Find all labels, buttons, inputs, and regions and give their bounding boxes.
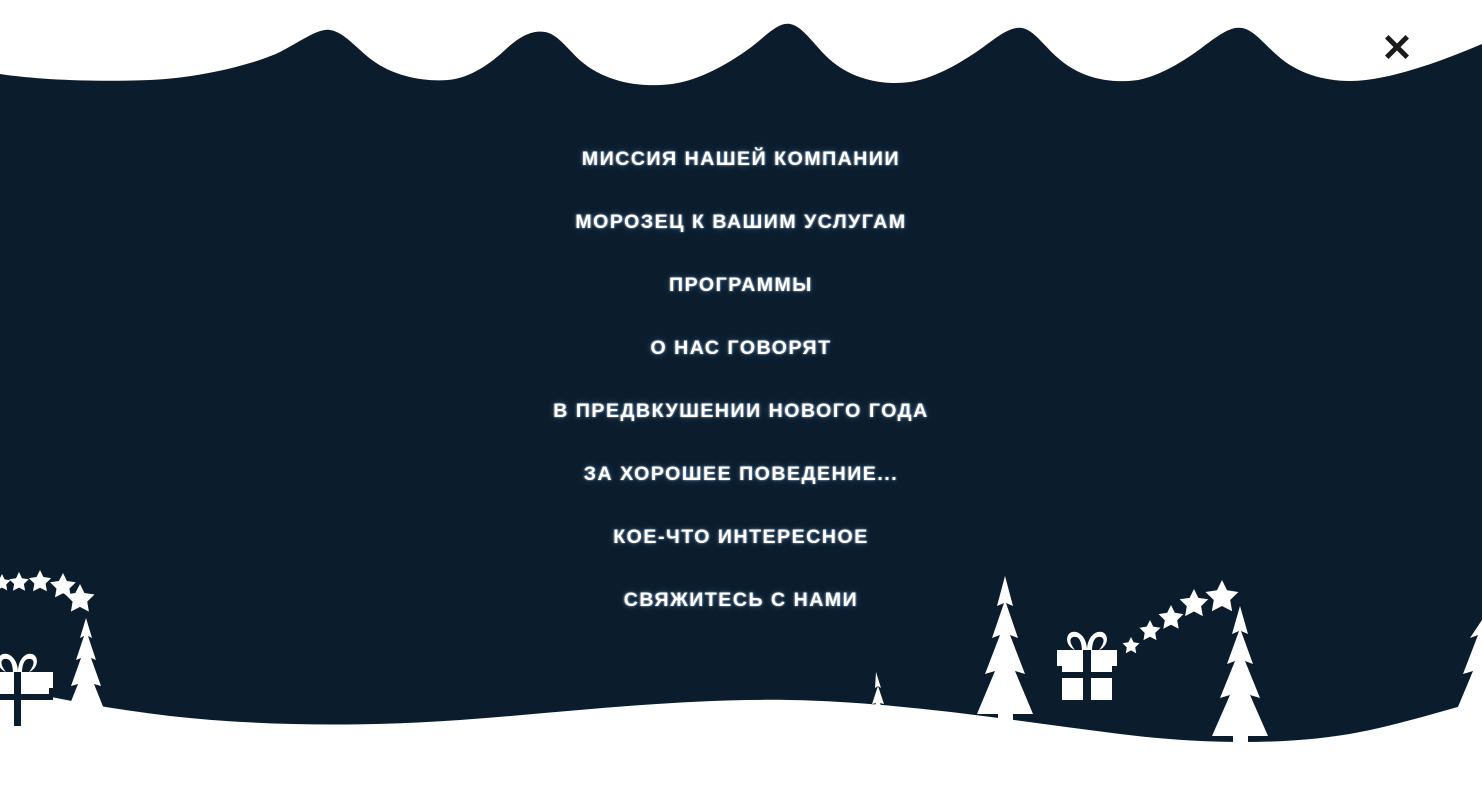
main-navigation-menu: МИССИЯ НАШЕЙ КОМПАНИИ МОРОЗЕЦ К ВАШИМ УС… (0, 0, 1482, 786)
menu-item-good-behaviour[interactable]: ЗА ХОРОШЕЕ ПОВЕДЕНИЕ... (584, 465, 899, 485)
menu-item-contacts[interactable]: СВЯЖИТЕСЬ С НАМИ (624, 591, 859, 611)
close-overlay-button[interactable] (1371, 21, 1423, 73)
menu-item-testimonials[interactable]: О НАС ГОВОРЯТ (650, 339, 831, 359)
menu-item-programs[interactable]: ПРОГРАММЫ (669, 276, 813, 296)
close-x-icon (1376, 26, 1418, 68)
menu-item-mission[interactable]: МИССИЯ НАШЕЙ КОМПАНИИ (582, 150, 900, 170)
menu-item-new-year[interactable]: В ПРЕДВКУШЕНИИ НОВОГО ГОДА (553, 402, 929, 422)
menu-item-interesting[interactable]: КОЕ-ЧТО ИНТЕРЕСНОЕ (613, 528, 869, 548)
navigation-overlay: МИССИЯ НАШЕЙ КОМПАНИИ МОРОЗЕЦ К ВАШИМ УС… (0, 0, 1482, 786)
menu-item-morozec[interactable]: МОРОЗЕЦ К ВАШИМ УСЛУГАМ (575, 213, 906, 233)
